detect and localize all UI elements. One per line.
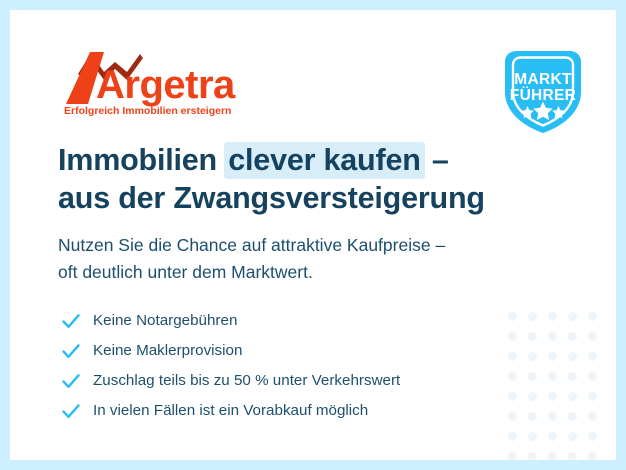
grid-dot <box>508 312 517 321</box>
grid-dot <box>548 392 557 401</box>
check-icon <box>60 310 82 332</box>
grid-dot <box>508 352 517 361</box>
grid-dot <box>528 392 537 401</box>
shield-icon: MARKT FÜHRER <box>493 40 593 140</box>
subheading-line1: Nutzen Sie die Chance auf attraktive Kau… <box>58 232 538 259</box>
grid-dot <box>588 432 597 441</box>
grid-dot <box>568 312 577 321</box>
advertisement-card: Argetra Erfolgreich Immobilien ersteiger… <box>10 10 616 460</box>
subheading-line2: oft deutlich unter dem Marktwert. <box>58 259 538 286</box>
grid-dot <box>528 352 537 361</box>
grid-dot <box>568 452 577 461</box>
grid-dot <box>548 432 557 441</box>
grid-dot <box>528 312 537 321</box>
grid-dot <box>508 452 517 461</box>
logo-tagline: Erfolgreich Immobilien ersteigern <box>64 105 231 117</box>
grid-dot <box>588 352 597 361</box>
argetra-logo-mark: Argetra Erfolgreich Immobilien ersteiger… <box>57 46 257 118</box>
grid-dot <box>548 352 557 361</box>
grid-dot <box>568 352 577 361</box>
grid-dot <box>588 452 597 461</box>
page-title: Immobilien clever kaufen – aus der Zwang… <box>58 141 528 217</box>
grid-dot <box>528 412 537 421</box>
benefit-label: Keine Notargebühren <box>93 311 237 331</box>
headline-part1: Immobilien <box>58 143 225 177</box>
grid-dot <box>588 312 597 321</box>
grid-dot <box>588 332 597 341</box>
market-leader-badge: MARKT FÜHRER <box>493 40 593 140</box>
grid-dot <box>568 412 577 421</box>
benefit-label: Keine Maklerprovision <box>93 341 242 361</box>
grid-dot <box>568 332 577 341</box>
grid-dot <box>548 332 557 341</box>
argetra-logo[interactable]: Argetra Erfolgreich Immobilien ersteiger… <box>57 46 257 118</box>
headline-highlight: clever kaufen <box>224 142 424 179</box>
grid-dot <box>508 432 517 441</box>
benefit-label: Zuschlag teils bis zu 50 % unter Verkehr… <box>93 371 400 391</box>
badge-line2: FÜHRER <box>510 87 576 104</box>
grid-dot <box>508 412 517 421</box>
benefits-list: Keine Notargebühren Keine Maklerprovisio… <box>60 306 400 426</box>
headline-part2: – <box>424 143 449 177</box>
grid-dot <box>548 312 557 321</box>
grid-dot <box>588 392 597 401</box>
grid-dot <box>508 392 517 401</box>
grid-dot <box>568 372 577 381</box>
grid-dot <box>528 332 537 341</box>
check-icon <box>60 400 82 422</box>
grid-dot <box>528 432 537 441</box>
dot-grid-decoration <box>502 306 602 460</box>
check-icon <box>60 340 82 362</box>
list-item: Keine Notargebühren <box>60 306 400 336</box>
subheading: Nutzen Sie die Chance auf attraktive Kau… <box>58 232 538 286</box>
grid-dot <box>528 372 537 381</box>
headline-line2: aus der Zwangsversteigerung <box>58 179 528 217</box>
grid-dot <box>548 412 557 421</box>
list-item: Keine Maklerprovision <box>60 336 400 366</box>
list-item: Zuschlag teils bis zu 50 % unter Verkehr… <box>60 366 400 396</box>
badge-line1: MARKT <box>514 71 572 88</box>
list-item: In vielen Fällen ist ein Vorabkauf mögli… <box>60 396 400 426</box>
grid-dot <box>568 432 577 441</box>
benefit-label: In vielen Fällen ist ein Vorabkauf mögli… <box>93 401 368 421</box>
check-icon <box>60 370 82 392</box>
grid-dot <box>548 452 557 461</box>
grid-dot <box>568 392 577 401</box>
grid-dot <box>548 372 557 381</box>
grid-dot <box>588 372 597 381</box>
grid-dot <box>528 452 537 461</box>
grid-dot <box>508 332 517 341</box>
grid-dot <box>588 412 597 421</box>
svg-text:Argetra: Argetra <box>96 63 236 107</box>
grid-dot <box>508 372 517 381</box>
